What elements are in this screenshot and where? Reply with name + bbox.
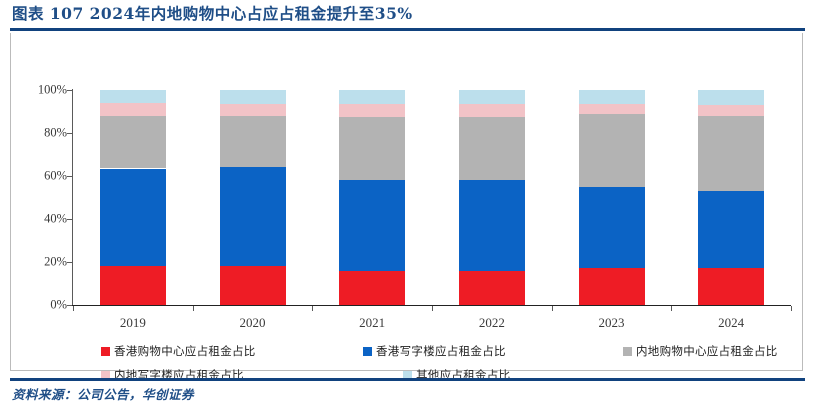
x-axis-tick-mark [552,306,553,311]
bar-segment[interactable] [220,116,286,167]
y-axis-tick-label: 40% [44,212,67,227]
y-axis-tick-labels: 0%20%40%60%80%100% [11,33,67,371]
y-axis-tick-label: 80% [44,126,67,141]
bar-segment[interactable] [100,266,166,305]
x-axis-tick-label: 2022 [479,315,505,331]
plot-area [73,90,791,305]
bar-segment[interactable] [220,167,286,266]
bar-segment[interactable] [220,90,286,104]
bar-segment[interactable] [220,104,286,116]
legend-swatch-icon [623,347,632,356]
bar-segment[interactable] [579,187,645,269]
x-axis-tick-mark [193,306,194,311]
bar-segment[interactable] [459,180,525,270]
chart-frame: 0%20%40%60%80%100% 香港购物中心应占租金占比香港写字楼应占租金… [10,33,803,371]
page-title: 图表 107 2024年内地购物中心占应占租金提升至35% [12,2,413,24]
x-axis-tick-label: 2023 [599,315,625,331]
bar-segment[interactable] [698,105,764,116]
legend-item[interactable]: 内地写字楼应占租金占比 [101,367,244,383]
bar-segment[interactable] [459,271,525,305]
source-note: 资料来源：公司公告，华创证券 [12,384,194,403]
bar-segment[interactable] [698,268,764,305]
bar-segment[interactable] [100,169,166,267]
bar-segment[interactable] [698,116,764,191]
bar-segment[interactable] [579,104,645,114]
legend-label: 香港购物中心应占租金占比 [114,343,256,359]
legend-row: 香港购物中心应占租金占比香港写字楼应占租金占比内地购物中心应占租金占比 [73,343,803,367]
bar-segment[interactable] [339,180,405,270]
bar-segment[interactable] [220,266,286,305]
bar-segment[interactable] [579,90,645,104]
bar-segment[interactable] [100,90,166,103]
legend-label: 内地购物中心应占租金占比 [636,343,778,359]
legend-label: 香港写字楼应占租金占比 [376,343,506,359]
bar-segment[interactable] [339,90,405,104]
bar-stack-2020[interactable] [220,90,286,305]
bar-stack-2024[interactable] [698,90,764,305]
legend-label: 内地写字楼应占租金占比 [114,367,244,383]
bar-segment[interactable] [339,271,405,305]
legend-item[interactable]: 香港购物中心应占租金占比 [101,343,256,359]
bar-segment[interactable] [579,268,645,305]
y-axis-tick-label: 60% [44,169,67,184]
x-axis-tick-label: 2021 [359,315,385,331]
bar-stack-2019[interactable] [100,90,166,305]
legend-item[interactable]: 香港写字楼应占租金占比 [363,343,506,359]
y-axis-tick-label: 0% [50,298,67,313]
bar-segment[interactable] [100,103,166,116]
bar-segment[interactable] [698,90,764,105]
bar-segment[interactable] [459,117,525,180]
legend-label: 其他应占租金占比 [416,367,510,383]
y-axis-tick-label: 20% [44,255,67,270]
x-axis-tick-mark [73,306,74,311]
x-axis-tick-mark [671,306,672,311]
bar-segment[interactable] [459,90,525,104]
bar-segment[interactable] [579,114,645,187]
legend-item[interactable]: 其他应占租金占比 [403,367,510,383]
x-axis-tick-label: 2020 [240,315,266,331]
y-axis-tick-label: 100% [38,83,67,98]
bar-segment[interactable] [339,104,405,117]
legend-item[interactable]: 内地购物中心应占租金占比 [623,343,778,359]
bar-segment[interactable] [100,116,166,169]
bar-segment[interactable] [459,104,525,117]
x-axis-tick-mark [791,306,792,311]
x-axis-tick-mark [432,306,433,311]
x-axis-tick-label: 2019 [120,315,146,331]
bar-stack-2022[interactable] [459,90,525,305]
bar-stack-2023[interactable] [579,90,645,305]
legend-swatch-icon [363,347,372,356]
x-axis-tick-mark [312,306,313,311]
bar-stack-2021[interactable] [339,90,405,305]
figure-header: 图表 107 2024年内地购物中心占应占租金提升至35% [0,0,814,32]
footer-divider [10,378,805,381]
header-divider [10,28,805,31]
legend-swatch-icon [101,347,110,356]
bar-segment[interactable] [339,117,405,180]
bar-segment[interactable] [698,191,764,268]
x-axis-tick-label: 2024 [718,315,744,331]
